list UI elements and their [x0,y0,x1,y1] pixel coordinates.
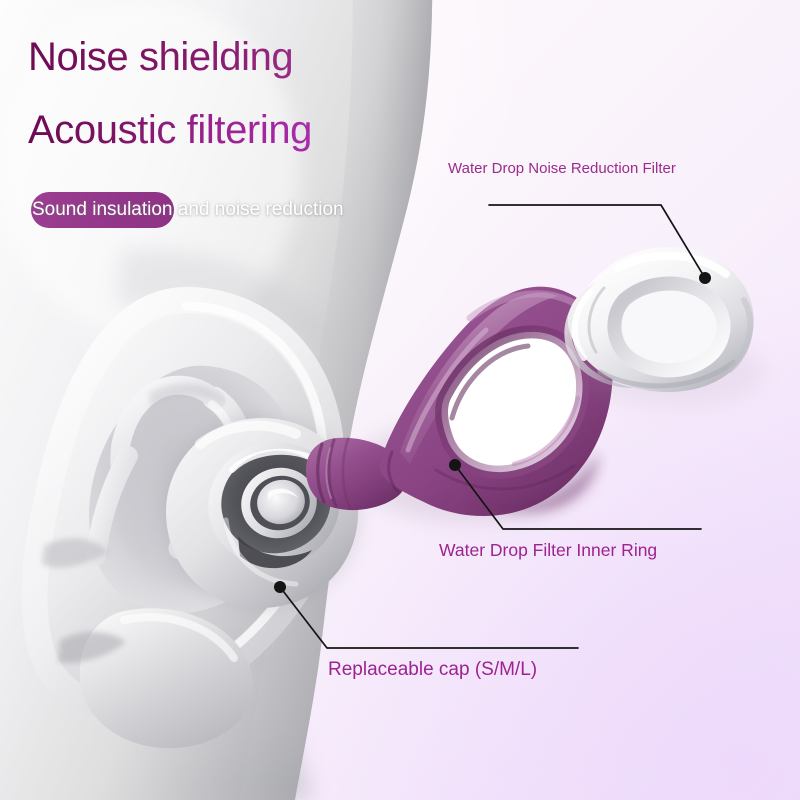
status-badge-label: Sound insulation and noise reduction [32,198,344,222]
page-title-line-1: Noise shielding [28,33,293,81]
callout-label-water-drop-filter-inner-ring: Water Drop Filter Inner Ring [439,540,657,561]
product-infographic: Noise shielding Acoustic filtering Sound… [0,0,800,800]
callout-label-water-drop-noise-reduction-filter: Water Drop Noise Reduction Filter [448,160,676,177]
callout-label-replaceable-cap: Replaceable cap (S/M/L) [328,659,537,681]
text-layer: Noise shielding Acoustic filtering Sound… [0,0,800,800]
page-title-line-2: Acoustic filtering [28,106,312,154]
